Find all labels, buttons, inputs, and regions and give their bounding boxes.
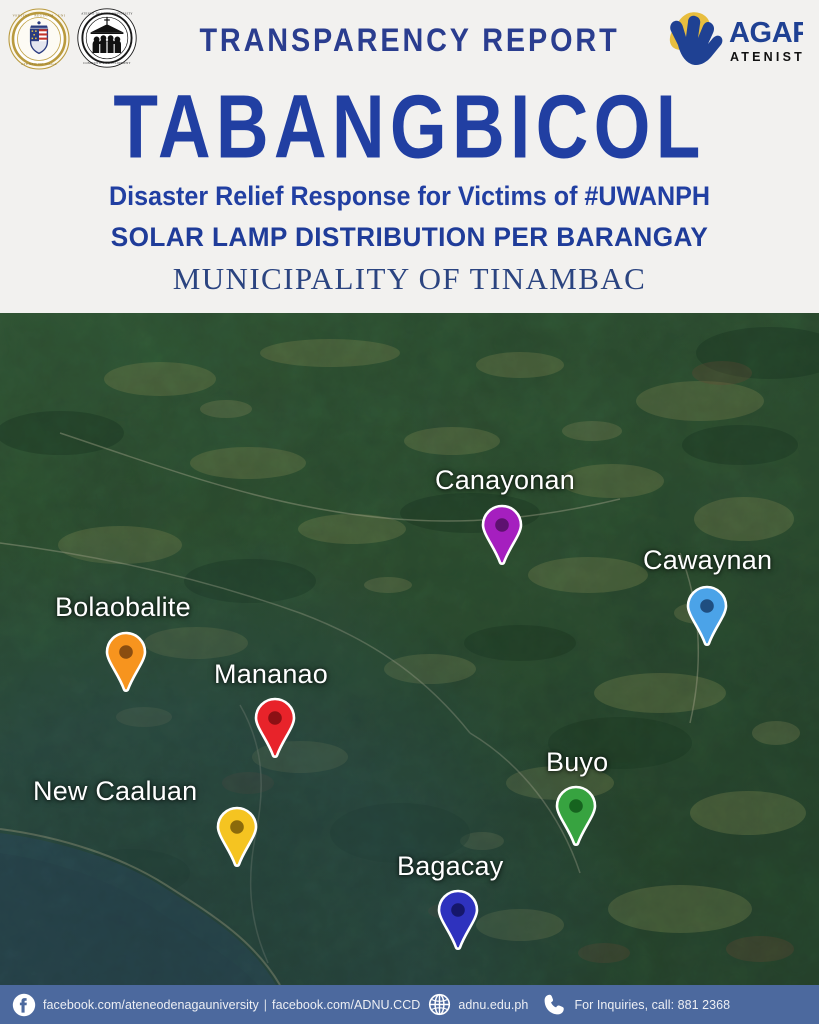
marker-label-bagacay: Bagacay bbox=[397, 851, 503, 882]
map-pin-mananao[interactable] bbox=[252, 697, 298, 759]
facebook-primary-url: facebook.com/ateneodenagauniversity bbox=[43, 998, 259, 1012]
inquiries-text: For Inquiries, call: 881 2368 bbox=[574, 998, 730, 1012]
facebook-icon bbox=[12, 993, 36, 1017]
municipality-name: MUNICIPALITY OF TINAMBAC bbox=[0, 261, 819, 297]
marker-label-bolaobalite: Bolaobalite bbox=[55, 592, 191, 623]
map-pin-cawaynan[interactable] bbox=[684, 585, 730, 647]
barangay-map[interactable]: Canayonan Cawaynan Bolaobalite Mananao bbox=[0, 313, 819, 985]
map-pin-canayonan[interactable] bbox=[479, 504, 525, 566]
page-subtitle: Disaster Relief Response for Victims of … bbox=[29, 181, 791, 212]
phone-inquiries[interactable]: For Inquiries, call: 881 2368 bbox=[536, 985, 730, 1024]
svg-text:ATENEO DE NAGA UNIVERSITY: ATENEO DE NAGA UNIVERSITY bbox=[81, 11, 133, 15]
atenista-wordmark: ATENISTA bbox=[730, 50, 803, 64]
transparency-report-poster: VERITAS · REGINAM · UNI ATENEO DE NAGA bbox=[0, 0, 819, 1024]
marker-label-cawaynan: Cawaynan bbox=[643, 545, 772, 576]
facebook-link[interactable]: facebook.com/ateneodenagauniversity bbox=[12, 985, 259, 1024]
agap-wordmark: AGAP bbox=[729, 17, 803, 49]
facebook-secondary-link[interactable]: facebook.com/ADNU.CCD bbox=[272, 985, 420, 1024]
phone-icon bbox=[542, 992, 567, 1017]
marker-label-buyo: Buyo bbox=[546, 747, 608, 778]
facebook-secondary-url: facebook.com/ADNU.CCD bbox=[272, 998, 420, 1012]
svg-text:ATENEO DE NAGA: ATENEO DE NAGA bbox=[21, 62, 57, 66]
globe-icon bbox=[428, 993, 451, 1016]
svg-text:COMMUNITY DEVELOPMENT: COMMUNITY DEVELOPMENT bbox=[83, 61, 130, 65]
marker-label-new-caaluan: New Caaluan bbox=[33, 776, 197, 807]
page-title: TABANGBICOL bbox=[49, 82, 770, 172]
map-pin-bolaobalite[interactable] bbox=[103, 631, 149, 693]
website-url: adnu.edu.ph bbox=[458, 998, 528, 1012]
marker-label-mananao: Mananao bbox=[214, 659, 328, 690]
map-pin-new-caaluan[interactable] bbox=[214, 806, 260, 868]
poster-header: VERITAS · REGINAM · UNI ATENEO DE NAGA bbox=[0, 0, 819, 313]
marker-label-canayonan: Canayonan bbox=[435, 465, 575, 496]
svg-text:VERITAS · REGINAM · UNI: VERITAS · REGINAM · UNI bbox=[12, 14, 65, 18]
section-title: SOLAR LAMP DISTRIBUTION PER BARANGAY bbox=[12, 222, 806, 253]
agap-hand-mark bbox=[670, 12, 723, 65]
map-pin-bagacay[interactable] bbox=[435, 889, 481, 951]
poster-footer: facebook.com/ateneodenagauniversity | fa… bbox=[0, 985, 819, 1024]
footer-separator: | bbox=[259, 998, 272, 1012]
map-pin-buyo[interactable] bbox=[553, 785, 599, 847]
agap-atenista-logo[interactable]: AGAP ATENISTA bbox=[651, 7, 803, 77]
website-link[interactable]: adnu.edu.ph bbox=[428, 985, 528, 1024]
